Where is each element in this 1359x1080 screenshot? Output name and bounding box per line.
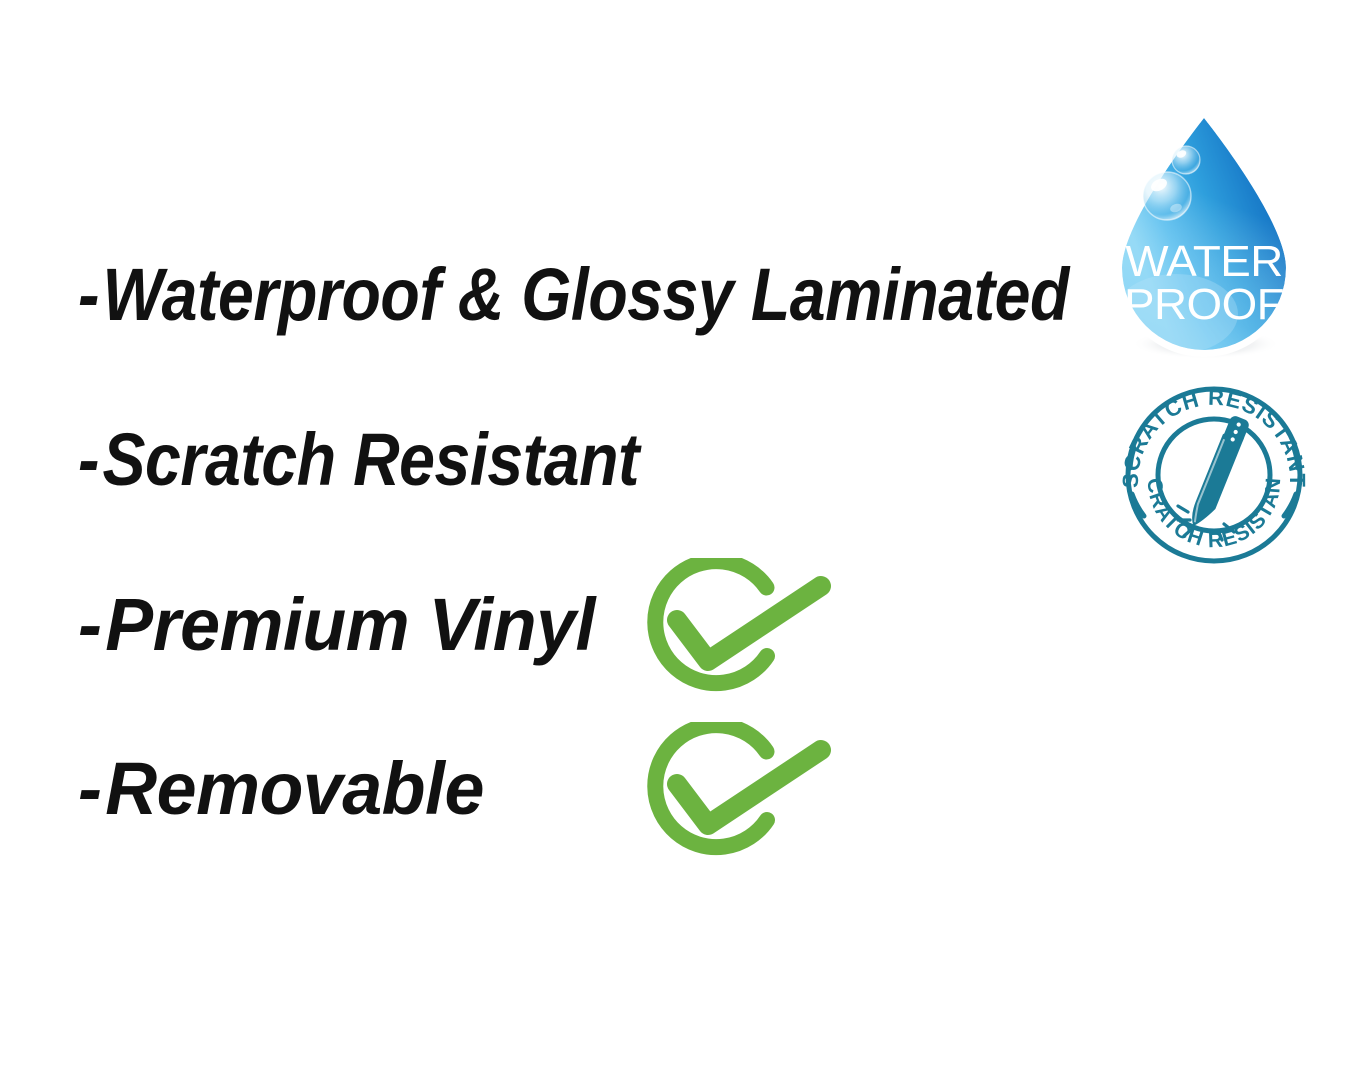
feature-item-premium-vinyl: -Premium Vinyl [78, 588, 611, 662]
feature-dash: - [78, 752, 101, 826]
feature-label: Removable [105, 747, 484, 830]
feature-dash: - [78, 588, 101, 662]
waterproof-line2: PROOF [1124, 279, 1284, 329]
check-mark [677, 750, 821, 825]
feature-label: Premium Vinyl [105, 583, 595, 666]
waterproof-badge: WATER PROOF [1098, 108, 1310, 364]
feature-list-graphic: -Waterproof & Glossy Laminated -Scratch … [0, 0, 1359, 1080]
check-circle-icon-2 [638, 722, 834, 862]
scratch-resistant-badge: SCRATCH RESISTANT SCRATCH RESISTANT [1118, 386, 1310, 564]
feature-item-waterproof: -Waterproof & Glossy Laminated [78, 258, 1217, 332]
feature-label: Waterproof & Glossy Laminated [102, 253, 1068, 336]
feature-item-removable: -Removable [78, 752, 496, 826]
water-bubble-small [1172, 146, 1200, 174]
check-circle-icon-1 [638, 558, 834, 698]
feature-dash: - [78, 423, 99, 497]
check-mark [677, 586, 821, 661]
knife-icon [1187, 414, 1251, 531]
feature-label: Scratch Resistant [102, 418, 638, 501]
feature-dash: - [78, 258, 99, 332]
feature-item-scratch-resistant: -Scratch Resistant [78, 423, 723, 497]
water-bubble-large [1143, 172, 1191, 220]
